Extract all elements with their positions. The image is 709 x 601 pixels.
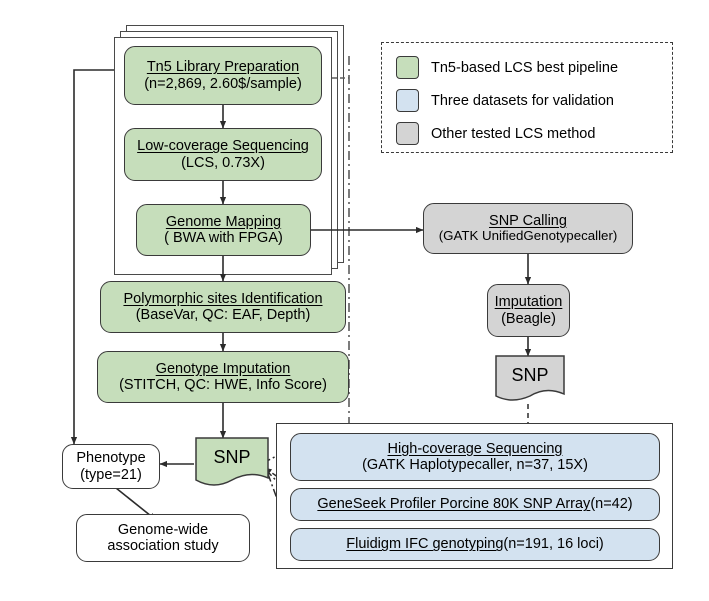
- node-imputation[interactable]: Imputation (Beagle): [487, 284, 570, 337]
- node-gwas-line2: association study: [107, 538, 218, 554]
- node-high-coverage-sequencing[interactable]: High-coverage Sequencing (GATK Haplotype…: [290, 433, 660, 481]
- legend-item-0: Tn5-based LCS best pipeline: [396, 52, 672, 83]
- workflow-diagram: Tn5-based LCS best pipeline Three datase…: [0, 0, 709, 601]
- snp-gray-shape: [496, 356, 564, 400]
- node-low-coverage-sequencing[interactable]: Low-coverage Sequencing (LCS, 0.73X): [124, 128, 322, 181]
- node-polymorphic-title: Polymorphic sites Identification: [123, 291, 322, 307]
- legend: Tn5-based LCS best pipeline Three datase…: [381, 42, 673, 153]
- node-genome-mapping-detail: ( BWA with FPGA): [164, 230, 283, 246]
- node-snp-calling-title: SNP Calling: [489, 213, 567, 229]
- node-polymorphic-sites[interactable]: Polymorphic sites Identification (BaseVa…: [100, 281, 346, 333]
- node-gwas-line1: Genome-wide: [118, 522, 208, 538]
- legend-label-1: Three datasets for validation: [431, 93, 614, 109]
- node-phenotype-detail: (type=21): [80, 467, 142, 483]
- node-fluidigm-title: Fluidigm IFC genotyping: [346, 536, 503, 552]
- node-low-coverage-detail: (LCS, 0.73X): [181, 155, 265, 171]
- node-tn5-library-detail: (n=2,869, 2.60$/sample): [144, 76, 302, 92]
- node-low-coverage-title: Low-coverage Sequencing: [137, 138, 309, 154]
- node-fluidigm-detail: (n=191, 16 loci): [503, 536, 603, 552]
- node-genotype-imputation[interactable]: Genotype Imputation (STITCH, QC: HWE, In…: [97, 351, 349, 403]
- node-fluidigm-genotyping[interactable]: Fluidigm IFC genotyping (n=191, 16 loci): [290, 528, 660, 561]
- node-tn5-library-title: Tn5 Library Preparation: [147, 59, 299, 75]
- node-geneseek-detail: (n=42): [590, 496, 632, 512]
- node-phenotype-title: Phenotype: [76, 450, 145, 466]
- node-geneseek-array[interactable]: GeneSeek Profiler Porcine 80K SNP Array …: [290, 488, 660, 521]
- node-snp-calling[interactable]: SNP Calling (GATK UnifiedGenotypecaller): [423, 203, 633, 254]
- node-tn5-library[interactable]: Tn5 Library Preparation (n=2,869, 2.60$/…: [124, 46, 322, 105]
- legend-item-1: Three datasets for validation: [396, 85, 672, 116]
- node-imputation-title: Imputation: [495, 294, 563, 310]
- blue-swatch: [396, 89, 419, 112]
- node-polymorphic-detail: (BaseVar, QC: EAF, Depth): [136, 307, 311, 323]
- node-geneseek-title: GeneSeek Profiler Porcine 80K SNP Array: [317, 496, 590, 512]
- node-high-coverage-detail: (GATK Haplotypecaller, n=37, 15X): [362, 457, 588, 473]
- legend-label-0: Tn5-based LCS best pipeline: [431, 60, 618, 76]
- node-genome-mapping-title: Genome Mapping: [166, 214, 281, 230]
- node-genotype-imputation-title: Genotype Imputation: [156, 361, 291, 377]
- snp-green-shape: [196, 438, 268, 485]
- node-snp-gray-label[interactable]: SNP: [496, 356, 564, 394]
- green-swatch: [396, 56, 419, 79]
- node-snp-calling-detail: (GATK UnifiedGenotypecaller): [439, 229, 618, 244]
- node-phenotype[interactable]: Phenotype (type=21): [62, 444, 160, 489]
- node-high-coverage-title: High-coverage Sequencing: [388, 441, 563, 457]
- node-gwas[interactable]: Genome-wide association study: [76, 514, 250, 562]
- node-genotype-imputation-detail: (STITCH, QC: HWE, Info Score): [119, 377, 327, 393]
- node-imputation-detail: (Beagle): [501, 311, 556, 327]
- node-snp-green-label[interactable]: SNP: [196, 438, 268, 476]
- gray-swatch: [396, 122, 419, 145]
- node-genome-mapping[interactable]: Genome Mapping ( BWA with FPGA): [136, 204, 311, 256]
- legend-label-2: Other tested LCS method: [431, 126, 595, 142]
- legend-item-2: Other tested LCS method: [396, 118, 672, 149]
